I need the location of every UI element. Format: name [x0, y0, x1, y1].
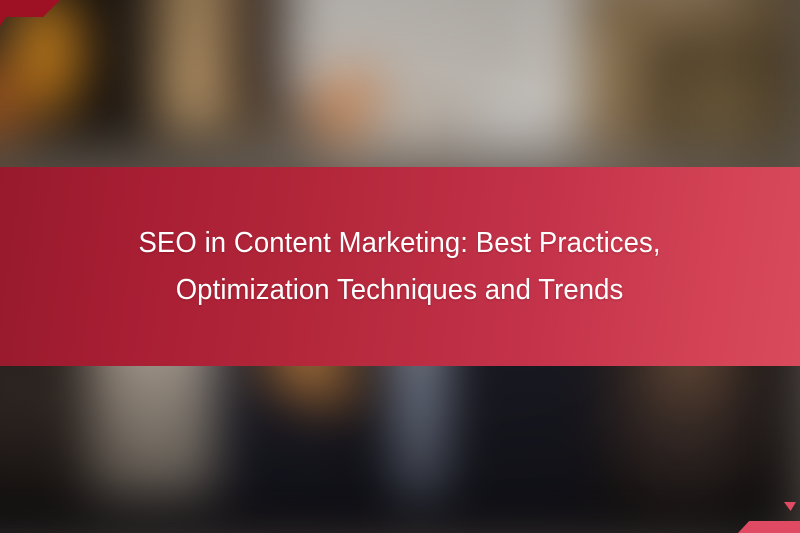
hero-banner-page: SEO in Content Marketing: Best Practices… — [0, 0, 800, 533]
page-title-line-2: Optimization Techniques and Trends — [139, 267, 661, 314]
page-title: SEO in Content Marketing: Best Practices… — [139, 220, 661, 314]
title-banner: SEO in Content Marketing: Best Practices… — [0, 167, 800, 366]
page-title-line-1: SEO in Content Marketing: Best Practices… — [139, 220, 661, 267]
